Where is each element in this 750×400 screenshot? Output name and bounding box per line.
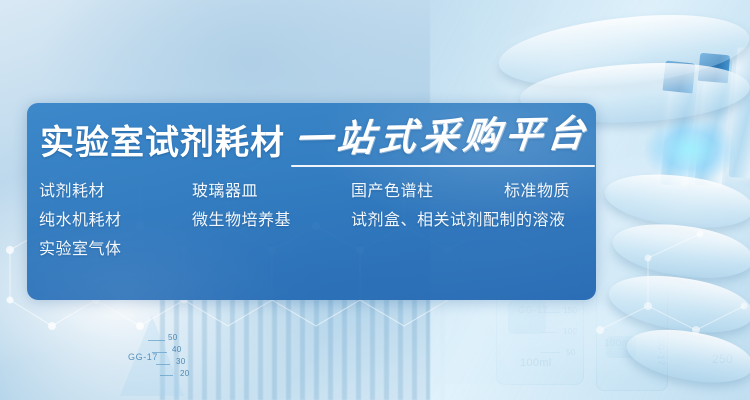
- category-item[interactable]: 玻璃器皿: [192, 177, 258, 206]
- content-panel: 实验室试剂耗材 一站式采购平台 试剂耗材 玻璃器皿 国产色谱柱 标准物质 纯水机…: [27, 103, 596, 300]
- graduation-mark: [156, 364, 170, 365]
- category-item[interactable]: 国产色谱柱: [351, 177, 434, 206]
- small-flask-mark-20: 20: [180, 369, 190, 378]
- background-lab-rack: [160, 300, 450, 400]
- glass-brand-label-3: GG-17: [128, 352, 158, 362]
- category-row: 纯水机耗材 微生物培养基 试剂盒、相关试剂配制的溶液: [39, 206, 587, 235]
- headline-underline: [291, 165, 595, 167]
- category-item[interactable]: 微生物培养基: [192, 206, 291, 235]
- headline: 实验室试剂耗材 一站式采购平台: [40, 117, 589, 165]
- graduation-mark: [160, 375, 173, 376]
- small-flask-mark-30: 30: [176, 357, 186, 366]
- category-row: 试剂耗材 玻璃器皿 国产色谱柱 标准物质: [39, 177, 587, 206]
- headline-script-wrap: 一站式采购平台: [295, 117, 589, 165]
- graduation-mark: [148, 340, 165, 341]
- category-list: 试剂耗材 玻璃器皿 国产色谱柱 标准物质 纯水机耗材 微生物培养基 试剂盒、相关…: [39, 177, 587, 264]
- category-item[interactable]: 纯水机耗材: [39, 206, 122, 235]
- category-item[interactable]: 试剂盒、相关试剂配制的溶液: [351, 206, 566, 235]
- small-flask-mark-40: 40: [172, 345, 182, 354]
- headline-main-text: 实验室试剂耗材: [40, 121, 285, 165]
- category-item[interactable]: 标准物质: [504, 177, 570, 206]
- category-item[interactable]: 试剂耗材: [39, 177, 105, 206]
- laboratory-reagent-banner: GG-17 50 40 30 20 250 APPROX 200 150 100…: [0, 0, 750, 400]
- graduation-mark: [152, 352, 167, 353]
- category-item[interactable]: 实验室气体: [39, 235, 122, 264]
- category-row: 实验室气体: [39, 235, 587, 264]
- headline-script-text: 一站式采购平台: [293, 114, 592, 162]
- light-glow: [645, 118, 735, 182]
- small-flask-mark-50: 50: [168, 333, 178, 342]
